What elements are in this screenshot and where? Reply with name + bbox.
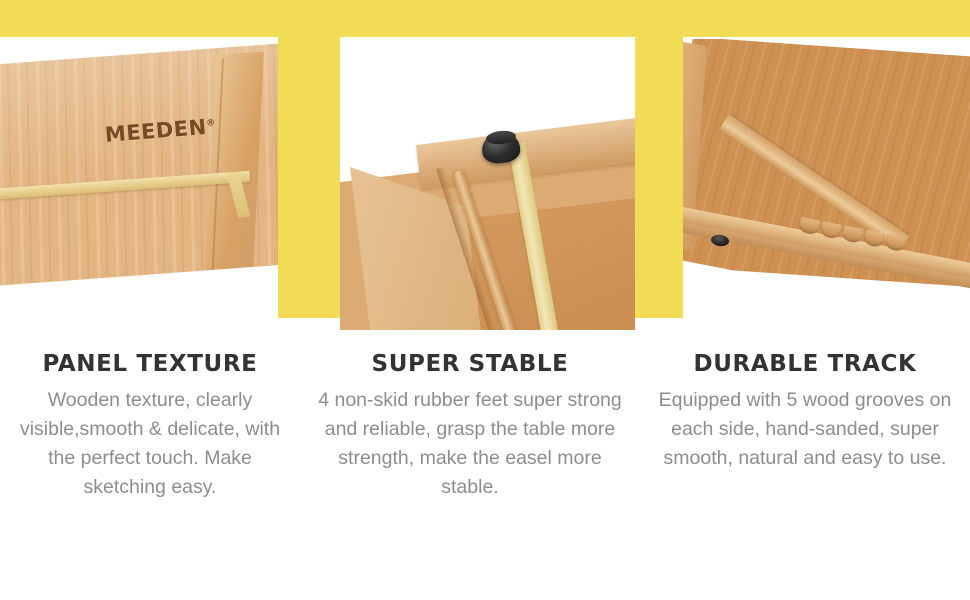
image-mask-top [683, 37, 970, 39]
registered-trademark-icon: ® [206, 118, 216, 129]
feature-block-durable-track: DURABLE TRACK Equipped with 5 wood groov… [640, 352, 970, 473]
panel-divider-2 [635, 37, 683, 318]
feature-block-super-stable: SUPER STABLE 4 non-skid rubber feet supe… [300, 352, 640, 502]
panel-divider-1 [278, 37, 340, 318]
feature-description: Equipped with 5 wood grooves on each sid… [658, 386, 952, 473]
groove-notch [885, 234, 907, 253]
feature-image-durable-track [683, 37, 970, 320]
feature-description: Wooden texture, clearly visible,smooth &… [14, 386, 286, 501]
top-accent-bar [0, 0, 970, 37]
feature-title: SUPER STABLE [318, 352, 622, 377]
groove-notch [798, 217, 820, 236]
groove-notch [863, 230, 885, 249]
feature-image-super-stable [340, 37, 635, 330]
feature-image-panel-texture: MEEDEN® [0, 37, 278, 320]
groove-notch [820, 221, 842, 240]
feature-block-panel-texture: PANEL TEXTURE Wooden texture, clearly vi… [0, 352, 300, 502]
groove-notch [841, 225, 863, 244]
product-feature-infographic: MEEDEN® [0, 0, 970, 600]
feature-description: 4 non-skid rubber feet super strong and … [318, 386, 622, 501]
feature-title: PANEL TEXTURE [14, 352, 286, 377]
image-mask-top [340, 37, 635, 110]
feature-text-row: PANEL TEXTURE Wooden texture, clearly vi… [0, 352, 970, 600]
feature-title: DURABLE TRACK [658, 352, 952, 377]
